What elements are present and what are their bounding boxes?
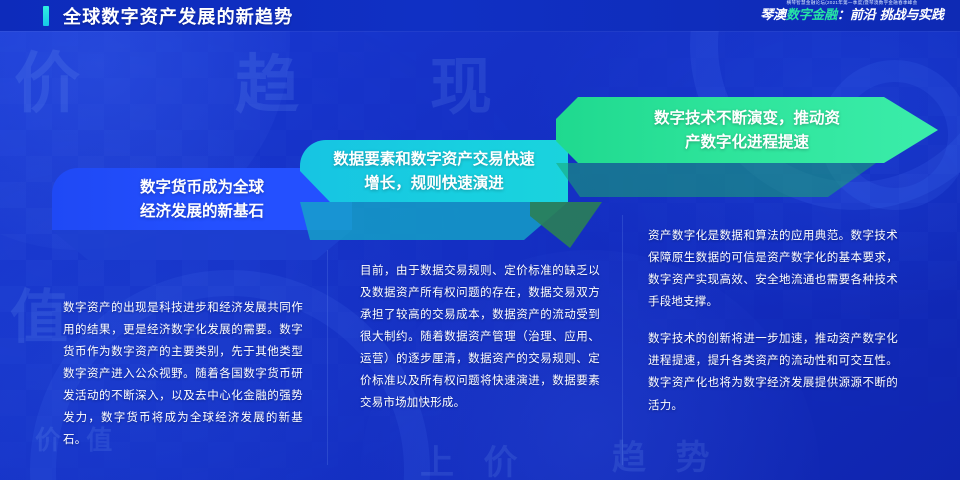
brand-title-part3: ：前沿 挑战与实践 [837, 8, 944, 23]
column-data-assets-paragraph-1: 目前，由于数据交易规则、定价标准的缺乏以及数据资产所有权问题的存在，数据交易双方… [360, 259, 600, 414]
column-digital-tech-paragraph-2: 数字技术的创新将进一步加速，推动资产数字化进程提速，提升各类资产的流动性和可交互… [648, 327, 898, 415]
header-bar: 全球数字资产发展的新趋势 横琴智慧金融论坛(2021年第一季度)暨琴澳数字金融春… [0, 0, 960, 31]
slide-background: 价 趋 现 值 上 价 趋 势 价 值 全球数字资产发展的新趋势 横琴智慧金融论… [0, 0, 960, 480]
brand-subtitle: 横琴智慧金融论坛(2021年第一季度)暨琴澳数字金融春季峰会 [754, 1, 950, 6]
column-digital-currency-paragraph-1: 数字资产的出现是科技进步和经济发展共同作用的结果，更是经济数字化发展的需要。数字… [63, 296, 303, 451]
brand-title-part1: 琴澳 [760, 8, 786, 23]
brand-title-part2: 数字金融 [786, 8, 837, 23]
column-digital-tech: 资产数字化是数据和算法的应用典范。数字技术保障原生数据的可信是资产数字化的基本要… [648, 224, 898, 416]
page-title: 全球数字资产发展的新趋势 [63, 3, 293, 29]
column-digital-currency: 数字资产的出现是科技进步和经济发展共同作用的结果，更是经济数字化发展的需要。数字… [63, 296, 303, 451]
accent-bar-icon [43, 6, 49, 26]
column-digital-tech-paragraph-1: 资产数字化是数据和算法的应用典范。数字技术保障原生数据的可信是资产数字化的基本要… [648, 224, 898, 312]
column-data-assets: 目前，由于数据交易规则、定价标准的缺乏以及数据资产所有权问题的存在，数据交易双方… [360, 259, 600, 414]
event-brand-logo: 横琴智慧金融论坛(2021年第一季度)暨琴澳数字金融春季峰会 琴澳数字金融：前沿… [754, 1, 950, 22]
brand-title: 琴澳数字金融：前沿 挑战与实践 [754, 9, 950, 22]
content-columns: 数字资产的出现是科技进步和经济发展共同作用的结果，更是经济数字化发展的需要。数字… [0, 0, 960, 480]
